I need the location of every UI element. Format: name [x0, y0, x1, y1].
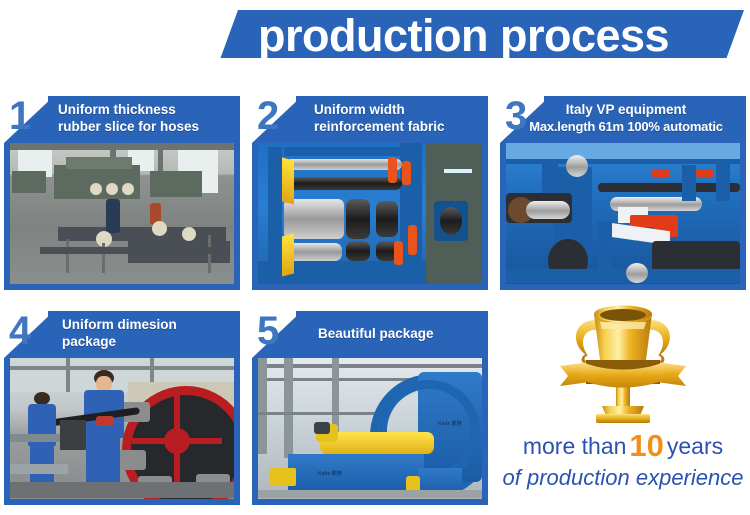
process-step-card-1[interactable]: 1 Uniform thickness rubber slice for hos…: [4, 96, 240, 290]
experience-block: more than10years of production experienc…: [498, 300, 748, 515]
process-step-card-4[interactable]: 4 Uniform dimesion package: [4, 311, 240, 505]
card-title-line-2: rubber slice for hoses: [58, 118, 199, 135]
process-step-card-5[interactable]: 5 Beautiful package Kaite 凯特 Kaite 凯特: [252, 311, 488, 505]
card-title: Uniform dimesion package: [62, 316, 177, 350]
card-title-line-1: Uniform dimesion: [62, 316, 177, 333]
page-title: production process: [258, 5, 748, 71]
card-title-line-2: package: [62, 333, 177, 350]
card-title-line-1: Italy VP equipment: [510, 101, 742, 118]
experience-years-line: more than10years: [498, 428, 748, 464]
card-photo: Kaite 凯特 Kaite 凯特: [258, 358, 482, 499]
card-title-line-1: Beautiful package: [318, 325, 434, 342]
card-photo: [258, 143, 482, 284]
experience-prefix: more than: [523, 433, 627, 459]
card-title-line-1: Uniform thickness: [58, 101, 199, 118]
trophy-icon: [556, 302, 690, 424]
card-title-line-2: reinforcement fabric: [314, 118, 445, 135]
card-title: Uniform thickness rubber slice for hoses: [58, 101, 199, 135]
experience-suffix: years: [667, 433, 723, 459]
card-photo: [10, 358, 234, 499]
card-title: Italy VP equipment Max.length 61m 100% a…: [510, 101, 742, 135]
card-photo: [10, 143, 234, 284]
step-number: 2: [257, 94, 279, 138]
card-title: Beautiful package: [318, 325, 434, 342]
process-step-card-3[interactable]: 3 Italy VP equipment Max.length 61m 100%…: [500, 96, 746, 290]
step-number: 4: [9, 309, 31, 353]
experience-years-value: 10: [626, 428, 666, 463]
step-number: 1: [9, 94, 31, 138]
card-title-line-1: Uniform width: [314, 101, 445, 118]
step-number: 5: [257, 309, 279, 353]
experience-subtitle: of production experience: [498, 465, 748, 491]
page-title-banner: production process: [0, 0, 750, 76]
card-title-line-2: Max.length 61m 100% automatic: [510, 118, 742, 135]
card-title: Uniform width reinforcement fabric: [314, 101, 445, 135]
process-step-card-2[interactable]: 2 Uniform width reinforcement fabric: [252, 96, 488, 290]
card-photo: [506, 143, 740, 284]
